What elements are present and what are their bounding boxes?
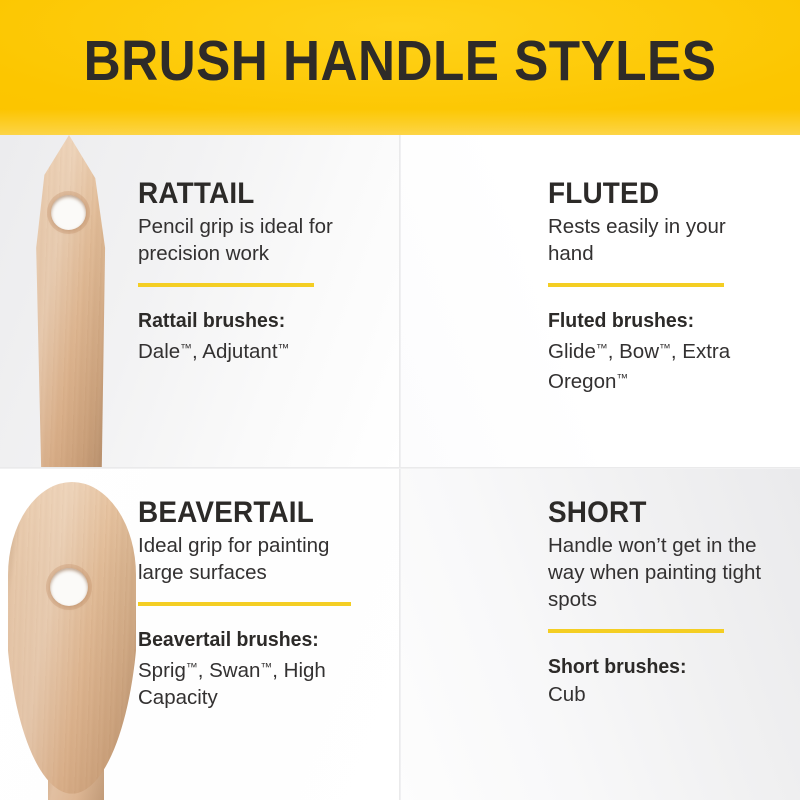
fluted-text-block: FLUTED Rests easily in your hand Fluted … — [548, 177, 763, 395]
beavertail-text-block: BEAVERTAIL Ideal grip for painting large… — [138, 496, 360, 711]
quadrant-beavertail: BEAVERTAIL Ideal grip for painting large… — [0, 468, 400, 800]
header-banner: BRUSH HANDLE STYLES — [0, 0, 800, 135]
style-description: Handle won’t get in the way when paintin… — [548, 532, 783, 613]
style-description: Pencil grip is ideal for precision work — [138, 213, 353, 267]
brushes-label: Beavertail brushes: — [138, 627, 349, 652]
rattail-text-block: RATTAIL Pencil grip is ideal for precisi… — [138, 177, 353, 365]
brushes-list: Cub — [548, 681, 783, 708]
style-name: RATTAIL — [138, 177, 338, 211]
style-name: BEAVERTAIL — [138, 496, 344, 530]
wood-surface — [8, 482, 136, 800]
accent-divider — [548, 629, 724, 633]
horizontal-divider — [0, 467, 800, 469]
style-description: Rests easily in your hand — [548, 213, 763, 267]
brushes-list: Sprig™, Swan™, High Capacity — [138, 654, 360, 711]
brushes-label: Fluted brushes: — [548, 308, 752, 333]
accent-divider — [138, 602, 351, 606]
rattail-handle-image — [28, 135, 110, 467]
quadrant-short: SHORT Handle won’t get in the way when p… — [400, 468, 800, 800]
accent-divider — [138, 283, 314, 287]
beavertail-handle-image — [8, 482, 136, 800]
quadrant-fluted: FLUTED Rests easily in your hand Fluted … — [400, 135, 800, 467]
accent-divider — [548, 283, 724, 287]
brush-handle-styles-infographic: BRUSH HANDLE STYLES RATTAIL Pencil grip … — [0, 0, 800, 800]
style-name: FLUTED — [548, 177, 748, 211]
brushes-list: Dale™, Adjutant™ — [138, 335, 353, 365]
quadrant-grid: RATTAIL Pencil grip is ideal for precisi… — [0, 135, 800, 800]
quadrant-rattail: RATTAIL Pencil grip is ideal for precisi… — [0, 135, 400, 467]
style-name: SHORT — [548, 496, 767, 530]
wood-surface — [28, 135, 110, 467]
short-text-block: SHORT Handle won’t get in the way when p… — [548, 496, 783, 708]
brushes-list: Glide™, Bow™, Extra Oregon™ — [548, 335, 763, 395]
hang-hole — [51, 195, 86, 230]
brushes-label: Rattail brushes: — [138, 308, 342, 333]
brushes-label: Short brushes: — [548, 654, 771, 679]
page-title: BRUSH HANDLE STYLES — [40, 30, 760, 92]
style-description: Ideal grip for painting large surfaces — [138, 532, 360, 586]
hang-hole — [50, 568, 88, 606]
